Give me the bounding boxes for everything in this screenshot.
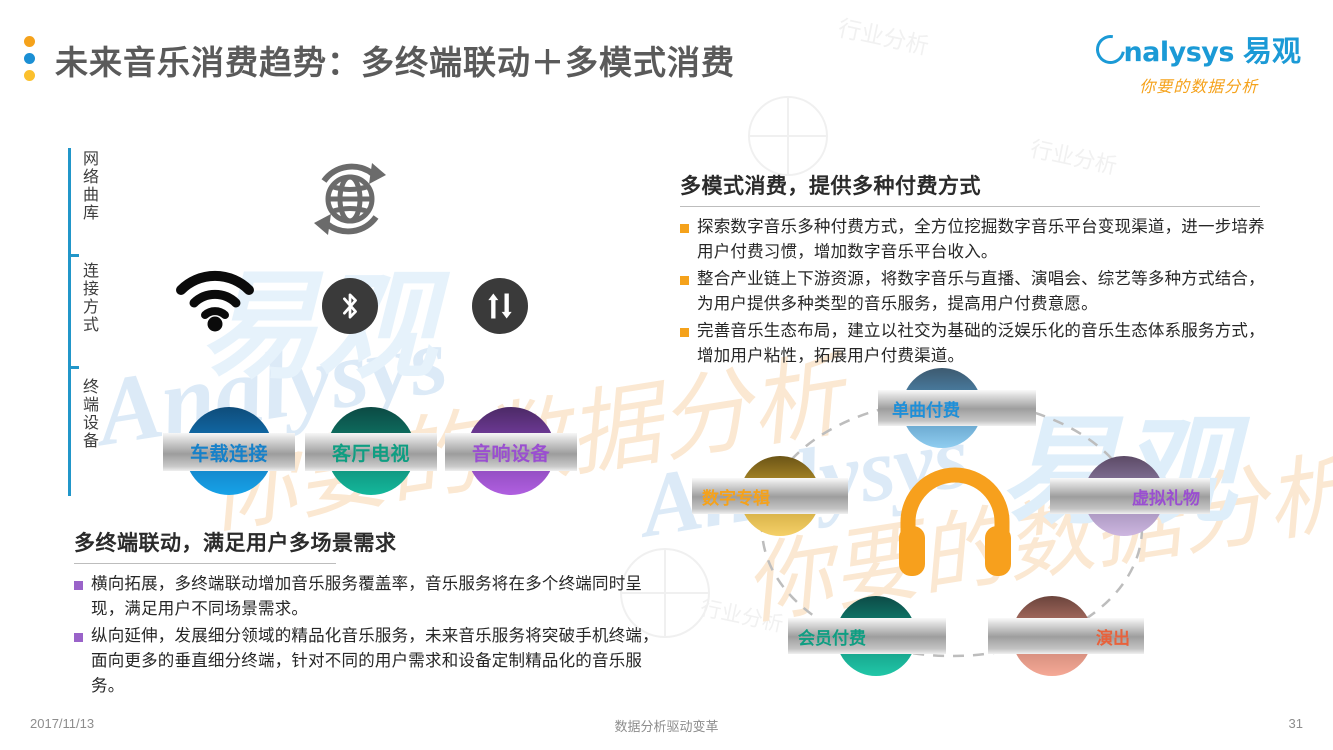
data-transfer-icon [472,278,528,334]
axis-label-terminal-devices: 终端设备 [74,378,96,450]
mode-banner: 演出 [988,618,1144,654]
bullet-marker-icon [74,581,83,590]
bullet-text: 整合产业链上下游资源，将数字音乐与直播、演唱会、综艺等多种方式结合，为用户提供多… [697,267,1265,317]
bullet-text: 横向拓展，多终端联动增加音乐服务覆盖率，音乐服务将在多个终端同时呈现，满足用户不… [91,572,674,622]
mode-node-digital-album[interactable]: 数字专辑 [692,456,852,548]
mode-label: 演出 [1096,624,1130,649]
axis-label-network-library: 网络曲库 [74,150,96,222]
bullet-item: 探索数字音乐多种付费方式，全方位挖掘数字音乐平台变现渠道，进一步培养用户付费习惯… [680,215,1265,265]
block-heading: 多模式消费，提供多种付费方式 [680,170,1265,206]
analysys-logo: nalysys 易观 你要的数据分析 [1096,28,1301,97]
category-axis [68,148,71,496]
mode-node-performance[interactable]: 演出 [988,596,1138,688]
logo-tagline: 你要的数据分析 [1096,73,1301,97]
axis-tick [68,366,79,369]
bullet-marker-icon [74,633,83,642]
mode-label: 会员付费 [798,624,866,649]
bullet-marker-icon [680,328,689,337]
footer-slogan: 数据分析驱动变革 [0,716,1333,735]
mode-label: 单曲付费 [892,396,960,421]
orange-dot-icon [24,36,35,47]
device-banner: 客厅电视 [305,433,437,471]
mode-node-single-track[interactable]: 单曲付费 [878,368,1028,460]
footer-page-number: 31 [1289,716,1303,731]
bullet-marker-icon [680,224,689,233]
page-title: 未来音乐消费趋势：多终端联动＋多模式消费 [55,36,735,84]
bullet-item: 整合产业链上下游资源，将数字音乐与直播、演唱会、综艺等多种方式结合，为用户提供多… [680,267,1265,317]
device-label: 车载连接 [190,439,268,466]
mode-label: 数字专辑 [702,484,770,509]
block-heading: 多终端联动，满足用户多场景需求 [74,527,674,563]
logo-cn-name: 易观 [1243,28,1301,70]
multi-mode-text-block: 多模式消费，提供多种付费方式 探索数字音乐多种付费方式，全方位挖掘数字音乐平台变… [680,170,1265,371]
mode-node-membership[interactable]: 会员付费 [788,596,948,688]
bullet-item: 纵向延伸，发展细分领域的精品化音乐服务，未来音乐服务将突破手机终端，面向更多的垂… [74,624,674,699]
bullet-marker-icon [680,276,689,285]
heading-rule [680,206,1260,207]
heading-rule [74,563,336,564]
mode-banner: 数字专辑 [692,478,848,514]
globe-sync-icon [300,155,400,240]
headphones-icon [896,464,1014,576]
mode-banner: 会员付费 [788,618,946,654]
blue-dot-icon [24,53,35,64]
logo-wordmark: nalysys [1123,37,1234,68]
watermark-label: 行业分析 [835,9,932,61]
watermark-ring-icon [748,96,828,176]
bullet-text: 纵向延伸，发展细分领域的精品化音乐服务，未来音乐服务将突破手机终端，面向更多的垂… [91,624,674,699]
mode-banner: 单曲付费 [878,390,1036,426]
mode-node-virtual-gift[interactable]: 虚拟礼物 [1050,456,1210,548]
yellow-dot-icon [24,70,35,81]
bullet-item: 完善音乐生态布局，建立以社交为基础的泛娱乐化的音乐生态体系服务方式，增加用户粘性… [680,319,1265,369]
wifi-icon [175,270,255,332]
bluetooth-icon [322,278,378,334]
slide-footer: 2017/11/13 数据分析驱动变革 31 [0,716,1333,736]
slide-canvas: 行业分析 行业分析 行业分析 Analysys 你要的数据分析 Analysys… [0,0,1333,750]
payment-modes-diagram: 单曲付费 虚拟礼物 演出 会员付费 数字 [700,368,1200,688]
mode-label: 虚拟礼物 [1132,484,1200,509]
device-label: 音响设备 [472,439,550,466]
device-banner: 车载连接 [163,433,295,471]
device-banner: 音响设备 [445,433,577,471]
axis-tick [68,254,79,257]
mode-banner: 虚拟礼物 [1050,478,1210,514]
bullet-text: 完善音乐生态布局，建立以社交为基础的泛娱乐化的音乐生态体系服务方式，增加用户粘性… [697,319,1265,369]
multi-terminal-text-block: 多终端联动，满足用户多场景需求 横向拓展，多终端联动增加音乐服务覆盖率，音乐服务… [74,527,674,701]
device-label: 客厅电视 [332,439,410,466]
axis-label-connection-method: 连接方式 [74,262,96,334]
bullet-text: 探索数字音乐多种付费方式，全方位挖掘数字音乐平台变现渠道，进一步培养用户付费习惯… [697,215,1265,265]
bullet-item: 横向拓展，多终端联动增加音乐服务覆盖率，音乐服务将在多个终端同时呈现，满足用户不… [74,572,674,622]
title-dots [24,36,36,87]
